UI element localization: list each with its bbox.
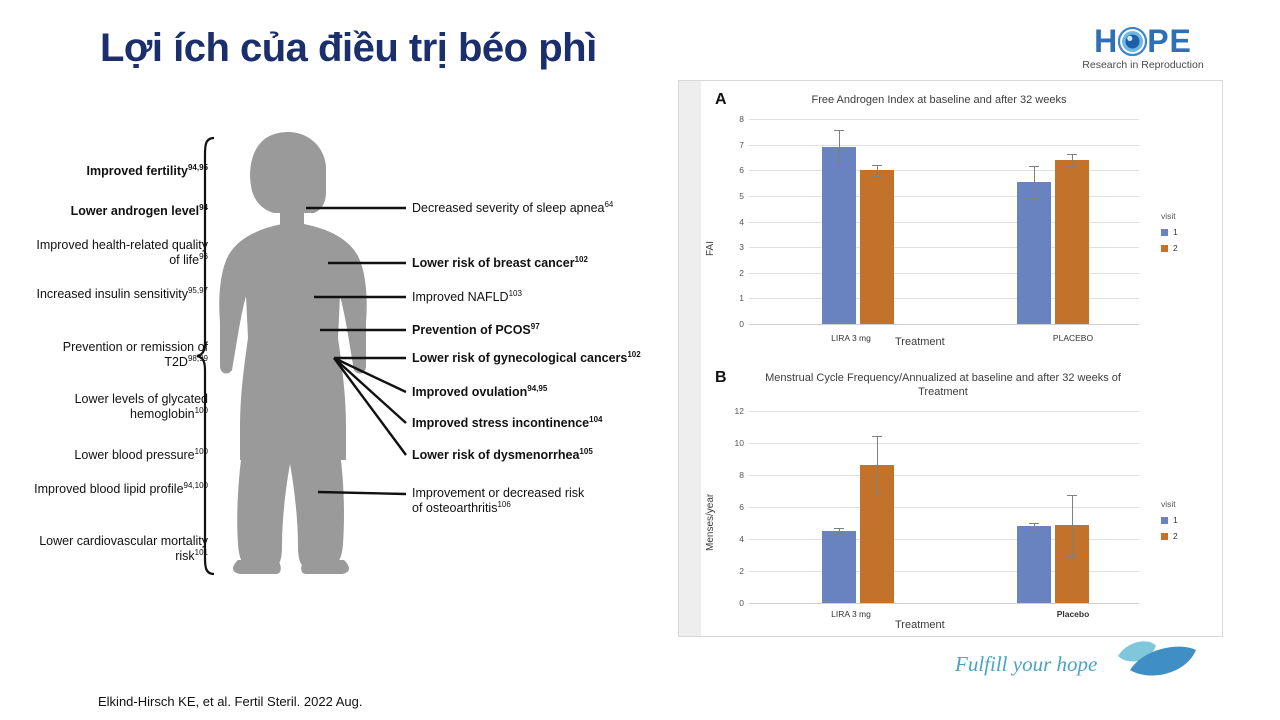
chart-b-plot: 024681012 <box>749 411 1139 603</box>
legend-label-visit1-b: 1 <box>1173 515 1178 525</box>
error-bar <box>877 165 878 176</box>
benefit-label-pcos: Prevention of PCOS97 <box>412 323 540 338</box>
error-bar-cap <box>872 176 882 177</box>
error-bar-cap <box>1067 556 1077 557</box>
error-bar-cap <box>1029 529 1039 530</box>
bar-lira-3-mg-visit1 <box>822 147 856 324</box>
y-axis-tick: 2 <box>739 268 744 278</box>
benefit-label-osteoarthritis: Improvement or decreased risk of osteoar… <box>412 486 592 515</box>
error-bar-cap <box>872 495 882 496</box>
gridline <box>749 443 1139 444</box>
error-bar-cap <box>1067 495 1077 496</box>
gridline <box>749 603 1139 604</box>
y-axis-tick: 0 <box>739 598 744 608</box>
y-axis-tick: 4 <box>739 217 744 227</box>
y-axis-tick: 0 <box>739 319 744 329</box>
error-bar-cap <box>1029 523 1039 524</box>
benefit-label-stress-incontinence: Improved stress incontinence104 <box>412 416 603 431</box>
eye-icon <box>1118 27 1147 56</box>
hope-logo-pe: PE <box>1147 23 1192 59</box>
benefit-label-cv-mortality: Lower cardiovascular mortality risk101 <box>28 534 208 563</box>
chart-a-category-lira: LIRA 3 mg <box>831 333 871 343</box>
error-bar-cap <box>834 165 844 166</box>
chart-a-legend-item-2: 2 <box>1161 243 1178 253</box>
error-bar <box>1072 154 1073 165</box>
chart-b-legend-item-2: 2 <box>1161 531 1178 541</box>
error-bar-cap <box>1067 154 1077 155</box>
chart-a-plot: 012345678 <box>749 119 1139 324</box>
error-bar-cap <box>834 130 844 131</box>
legend-swatch-visit1-b <box>1161 517 1168 524</box>
gridline <box>749 145 1139 146</box>
hope-logo-h: H <box>1094 23 1118 59</box>
page-title: Lợi ích của điều trị béo phì <box>100 26 597 71</box>
error-bar <box>1034 166 1035 198</box>
error-bar <box>877 436 878 495</box>
error-bar <box>1072 495 1073 556</box>
chart-b-category-placebo: Placebo <box>1057 609 1090 619</box>
legend-label-visit1: 1 <box>1173 227 1178 237</box>
chart-b-legend-item-1: 1 <box>1161 515 1178 525</box>
chart-a-legend-item-1: 1 <box>1161 227 1178 237</box>
bar-placebo-visit2 <box>1055 160 1089 324</box>
gridline <box>749 411 1139 412</box>
y-axis-tick: 8 <box>739 114 744 124</box>
legend-label-visit2-b: 2 <box>1173 531 1178 541</box>
error-bar <box>839 130 840 165</box>
y-axis-tick: 6 <box>739 502 744 512</box>
leaf-logo-icon <box>1110 636 1202 682</box>
benefit-label-blood-pressure: Lower blood pressure100 <box>28 448 208 463</box>
error-bar-cap <box>834 534 844 535</box>
y-axis-tick: 12 <box>735 406 744 416</box>
bar-placebo-visit1 <box>1017 182 1051 324</box>
benefit-label-t2d-remission: Prevention or remission of T2D98,99 <box>28 340 208 369</box>
y-axis-tick: 4 <box>739 534 744 544</box>
study-figure-panel: A Free Androgen Index at baseline and af… <box>678 80 1223 637</box>
error-bar-cap <box>1029 198 1039 199</box>
benefit-label-nafld: Improved NAFLD103 <box>412 290 522 305</box>
benefit-label-gynecological-cancers: Lower risk of gynecological cancers102 <box>412 351 641 366</box>
benefit-label-lipid-profile: Improved blood lipid profile94,100 <box>28 482 208 497</box>
y-axis-tick: 8 <box>739 470 744 480</box>
benefit-label-breast-cancer: Lower risk of breast cancer102 <box>412 256 588 271</box>
y-axis-tick: 1 <box>739 293 744 303</box>
y-axis-tick: 6 <box>739 165 744 175</box>
obesity-benefits-infographic: Improved fertility94,95 Lower androgen l… <box>28 130 678 590</box>
error-bar-cap <box>1067 166 1077 167</box>
panel-left-band <box>679 81 701 636</box>
gridline <box>749 324 1139 325</box>
panel-a-letter: A <box>715 91 727 109</box>
benefit-label-sleep-apnea: Decreased severity of sleep apnea64 <box>412 201 613 216</box>
error-bar-cap <box>834 528 844 529</box>
y-axis-tick: 5 <box>739 191 744 201</box>
legend-swatch-visit2 <box>1161 245 1168 252</box>
chart-a-legend-title: visit <box>1161 211 1178 221</box>
error-bar-cap <box>872 165 882 166</box>
benefit-label-lower-androgen: Lower androgen level94 <box>28 204 208 219</box>
gridline <box>749 475 1139 476</box>
hope-logo: H PE Research in Reproduction <box>1082 24 1204 80</box>
gridline <box>749 119 1139 120</box>
y-axis-tick: 3 <box>739 242 744 252</box>
citation-text: Elkind-Hirsch KE, et al. Fertil Steril. … <box>98 694 362 709</box>
y-axis-tick: 7 <box>739 140 744 150</box>
chart-b-legend: visit 1 2 <box>1161 499 1178 547</box>
chart-b-title: Menstrual Cycle Frequency/Annualized at … <box>747 371 1139 399</box>
chart-b-ylabel: Menses/year <box>705 494 716 551</box>
benefit-label-dysmenorrhea: Lower risk of dysmenorrhea105 <box>412 448 593 463</box>
chart-b-legend-title: visit <box>1161 499 1178 509</box>
benefit-label-improved-fertility: Improved fertility94,95 <box>28 164 208 179</box>
y-axis-tick: 2 <box>739 566 744 576</box>
error-bar-cap <box>1029 166 1039 167</box>
chart-b-category-lira: LIRA 3 mg <box>831 609 871 619</box>
bar-placebo-visit1 <box>1017 526 1051 603</box>
panel-b-letter: B <box>715 369 727 387</box>
legend-swatch-visit1 <box>1161 229 1168 236</box>
benefit-label-quality-of-life: Improved health-related quality of life9… <box>28 238 208 267</box>
error-bar-cap <box>872 436 882 437</box>
y-axis-tick: 10 <box>735 438 744 448</box>
gridline <box>749 507 1139 508</box>
hope-logo-wordmark: H PE <box>1082 24 1204 58</box>
benefit-label-insulin-sensitivity: Increased insulin sensitivity95,97 <box>28 287 208 302</box>
bar-lira-3-mg-visit1 <box>822 531 856 603</box>
chart-a-ylabel: FAI <box>705 241 716 256</box>
chart-b-xlabel: Treatment <box>895 619 945 631</box>
chart-a-xlabel: Treatment <box>895 336 945 348</box>
chart-a-title: Free Androgen Index at baseline and afte… <box>739 93 1139 107</box>
female-body-silhouette <box>218 130 378 575</box>
chart-a-category-placebo: PLACEBO <box>1053 333 1093 343</box>
benefit-label-glycated-hemoglobin: Lower levels of glycated hemoglobin100 <box>28 392 208 421</box>
benefit-label-ovulation: Improved ovulation94,95 <box>412 385 547 400</box>
slide-tagline: Fulfill your hope <box>955 652 1097 677</box>
legend-label-visit2: 2 <box>1173 243 1178 253</box>
chart-a-legend: visit 1 2 <box>1161 211 1178 259</box>
bar-lira-3-mg-visit2 <box>860 170 894 324</box>
hope-logo-tagline: Research in Reproduction <box>1082 59 1204 71</box>
legend-swatch-visit2-b <box>1161 533 1168 540</box>
